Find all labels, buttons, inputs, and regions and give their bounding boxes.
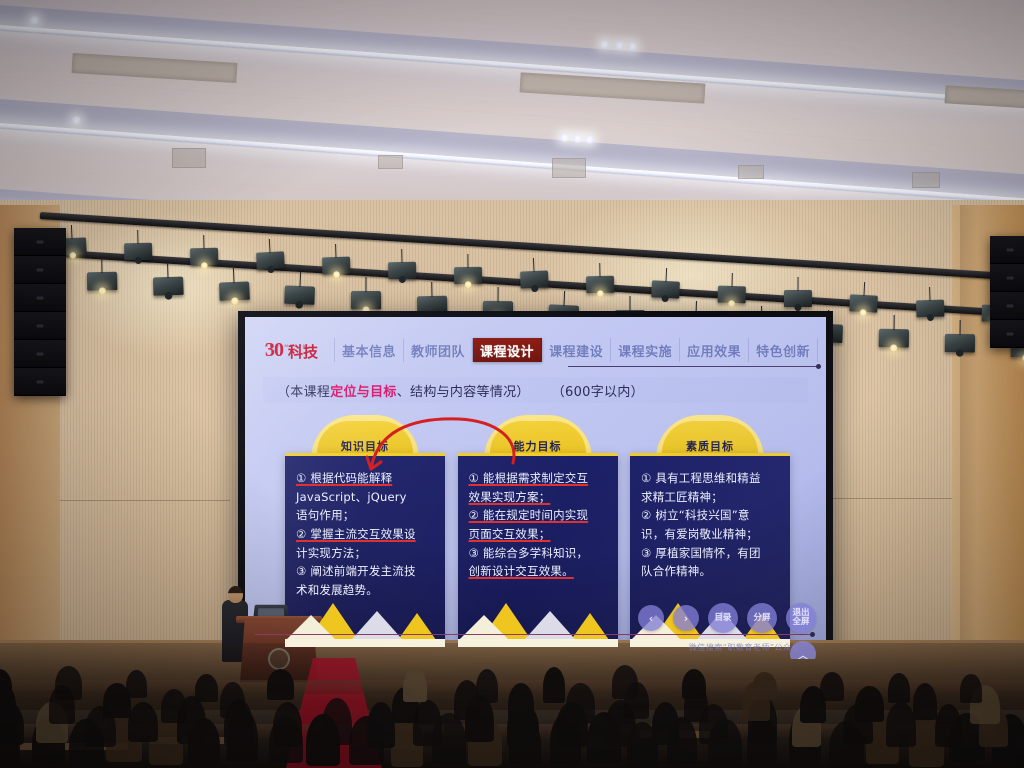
next-slide-button[interactable]: › [673,605,699,631]
header-divider-rule [568,366,818,367]
stage-light-fixture [322,257,351,275]
ceiling [0,0,1024,215]
presenter-head [228,586,243,603]
goal-text-3: ① 具有工程思维和精益求精工匠精神；② 树立“科技兴国”意识，有爱岗敬业精神；③… [630,456,790,581]
subtitle-prefix: （本课程 [277,381,330,400]
ceiling-downlight [585,135,594,144]
ceiling-downlight [600,40,609,49]
goal-line: ③ 阐述前端开发主流技 [296,562,434,581]
ceiling-grille [378,155,403,169]
audience-head [886,702,916,747]
ceiling-vent [945,85,1024,108]
audience-head [161,689,187,723]
ceiling-grille [172,148,206,168]
goal-line: 术和发展趋势。 [296,581,434,600]
slide-footer-rule [255,634,812,635]
goal-line: 创新设计交互效果。 [469,562,607,581]
stage-light-fixture [945,334,975,353]
audience-head [267,669,294,699]
ceiling-downlight [615,41,624,50]
screen-bezel: 30 科技 基本信息教师团队课程设计课程建设课程实施应用效果特色创新 KEJI … [238,311,833,666]
goal-line: ② 能在规定时间内实现 [469,506,607,525]
stage-light-fixture [190,247,218,265]
audience-head [403,668,427,702]
audience-head [935,704,962,748]
goal-line: 识，有爱岗敬业精神； [641,525,779,544]
ceiling-downlight [628,42,637,51]
audience-head [508,683,535,721]
tab-3[interactable]: 课程设计 [473,338,542,362]
split-screen-button[interactable]: 分屏 [747,603,777,633]
slide-control-bar[interactable]: ‹ › 目录 分屏 退出 全屏 [638,603,816,633]
stage-light-fixture [916,299,944,317]
stage-light-fixture [284,286,315,306]
goal-line: 计实现方法； [296,544,434,563]
led-presentation-screen[interactable]: 30 科技 基本信息教师团队课程设计课程建设课程实施应用效果特色创新 KEJI … [238,311,833,666]
audience-head [55,666,81,699]
stage-light-fixture [651,280,680,298]
slide-tab-bar[interactable]: 基本信息教师团队课程设计课程建设课程实施应用效果特色创新 [334,338,818,362]
ceiling-downlight [560,133,569,142]
stage-light-fixture [153,276,184,295]
mountain-graphic-2 [458,589,618,647]
audience-head [0,669,12,700]
goal-line: ③ 能综合多学科知识， [469,544,607,563]
lecture-hall-scene: 30 科技 基本信息教师团队课程设计课程建设课程实施应用效果特色创新 KEJI … [0,0,1024,768]
slide-subtitle-bar: （本课程定位与目标、结构与内容等情况） （600字以内） [263,377,808,403]
ceiling-downlight [30,16,39,25]
goal-title-3: 素质目标 [686,438,734,454]
ceiling-grille [738,165,764,179]
audience-head [888,673,910,703]
exit-fullscreen-line2: 全屏 [792,618,809,627]
stage-light-fixture [87,272,118,291]
audience-head [566,683,595,723]
stage-light-fixture [256,252,285,270]
ceiling-vent [72,53,238,83]
audience-head [682,669,706,699]
goal-line: 队合作精神。 [641,562,779,581]
audience-head [273,702,302,746]
goal-line: 语句作用； [296,506,434,525]
tab-1[interactable]: 基本信息 [334,338,404,362]
line-array-speaker-left [14,228,66,396]
goal-text-2: ① 能根据需求制定交互效果实现方案；② 能在规定时间内实现页面交互效果；③ 能综… [458,456,618,581]
goal-column-1: 知识目标① 根据代码能解释JavaScript、jQuery语句作用；② 掌握主… [285,415,445,647]
goal-line: ① 根据代码能解释 [296,469,434,488]
goal-line: 页面交互效果； [469,525,607,544]
audience-head [612,665,639,699]
stage-light-fixture [454,266,482,283]
audience-head [126,670,147,698]
tab-5[interactable]: 课程实施 [611,338,680,362]
prev-slide-button[interactable]: ‹ [638,605,664,631]
logo-tagline: KEJI MEDIA [265,343,307,348]
goal-line: ① 具有工程思维和精益 [641,469,779,488]
audience-head [913,683,938,721]
goal-line: ② 掌握主流交互效果设 [296,525,434,544]
goal-line: JavaScript、jQuery [296,488,434,507]
tab-7[interactable]: 特色创新 [749,338,818,362]
exit-fullscreen-button[interactable]: 退出 全屏 [786,603,816,633]
goal-text-1: ① 根据代码能解释JavaScript、jQuery语句作用；② 掌握主流交互效… [285,456,445,599]
stage-light-fixture [586,276,614,294]
slide-canvas[interactable]: 30 科技 基本信息教师团队课程设计课程建设课程实施应用效果特色创新 KEJI … [245,317,826,659]
goal-line: ② 树立“科技兴国”意 [641,506,779,525]
goal-column-2: 能力目标① 能根据需求制定交互效果实现方案；② 能在规定时间内实现页面交互效果；… [458,415,618,647]
goal-line: 求精工匠精神； [641,488,779,507]
stage-light-fixture [351,291,381,309]
audience-head [220,682,245,719]
stage-light-fixture [718,285,746,303]
tab-2[interactable]: 教师团队 [404,338,473,362]
audience-head [820,672,843,701]
ceiling-grille [912,172,940,188]
subtitle-word-limit: （600字以内） [552,381,644,400]
subtitle-suffix: 、结构与内容等情况） [397,381,530,400]
audience-head [128,702,158,742]
tab-6[interactable]: 应用效果 [680,338,749,362]
stage-light-fixture [124,242,152,260]
goal-line: 效果实现方案； [469,488,607,507]
ceiling-grille [552,158,586,178]
line-array-speaker-right [990,236,1024,348]
stage-light-fixture [219,281,250,301]
stage-light-fixture [388,261,416,279]
goal-title-1: 知识目标 [341,438,389,454]
audience-head [543,667,566,702]
stage-light-fixture [849,294,878,312]
stage-light-fixture [520,271,549,289]
audience-head [652,702,680,745]
ceiling-downlight [573,134,582,143]
audience-head [752,672,777,700]
slide-watermark: 微信搜索“职教育老师”公众号 [689,642,800,653]
goal-line: ① 能根据需求制定交互 [469,469,607,488]
stage-light-fixture [879,329,910,348]
goal-card-1: ① 根据代码能解释JavaScript、jQuery语句作用；② 掌握主流交互效… [285,453,445,647]
goal-line: ③ 厚植家国情怀，有团 [641,544,779,563]
audience-head [855,686,884,721]
audience-head [195,674,219,703]
audience-head [960,674,981,703]
audience-area [0,643,1024,768]
contents-button[interactable]: 目录 [708,603,738,633]
stage-light-fixture [784,290,812,307]
audience-head [367,702,395,748]
slide-header: 30 科技 基本信息教师团队课程设计课程建设课程实施应用效果特色创新 [245,333,826,367]
goal-card-2: ① 能根据需求制定交互效果实现方案；② 能在规定时间内实现页面交互效果；③ 能综… [458,453,618,647]
goal-title-2: 能力目标 [514,438,562,454]
audience-head [476,669,498,702]
subtitle-highlight: 定位与目标 [330,381,397,400]
tab-4[interactable]: 课程建设 [542,338,611,362]
ceiling-downlight [72,116,81,125]
